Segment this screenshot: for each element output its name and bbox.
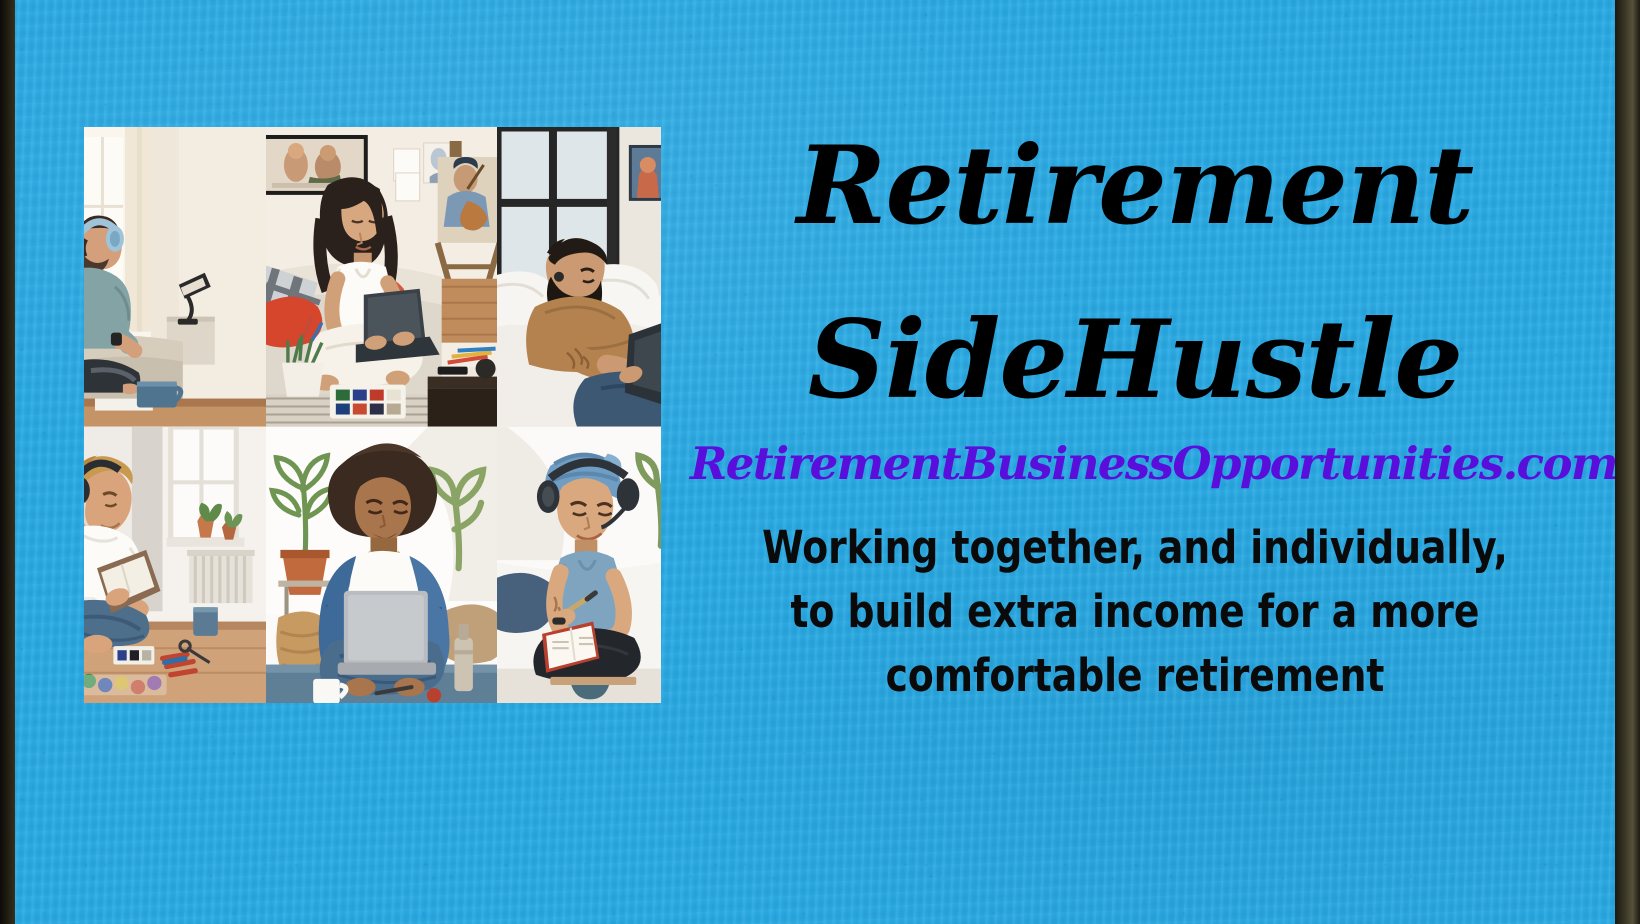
tagline-line-2: to build extra income for a more: [721, 580, 1549, 644]
brand-title-line-1: Retirement: [690, 132, 1580, 240]
website-url[interactable]: RetirementBusinessOpportunities.com: [690, 441, 1580, 486]
collage-cell-top-left: [84, 127, 266, 427]
collage-cell-top-center: [266, 127, 498, 427]
brand-title-line-2: SideHustle: [690, 306, 1580, 414]
collage-cell-bottom-right: [497, 427, 661, 703]
promotional-banner: Retirement SideHustle RetirementBusiness…: [0, 0, 1640, 924]
tagline-line-3: comfortable retirement: [721, 644, 1549, 708]
text-column: Retirement SideHustle RetirementBusiness…: [690, 0, 1580, 924]
photo-collage: [84, 127, 661, 703]
collage-cell-bottom-left: [84, 427, 266, 703]
tagline-line-1: Working together, and individually,: [721, 516, 1549, 580]
tagline-block: Working together, and individually, to b…: [721, 516, 1549, 708]
right-edge-frame-strip: [1615, 0, 1640, 924]
left-edge-frame-strip: [0, 0, 15, 924]
collage-cell-bottom-center: [266, 427, 498, 703]
collage-cell-top-right: [497, 127, 661, 427]
